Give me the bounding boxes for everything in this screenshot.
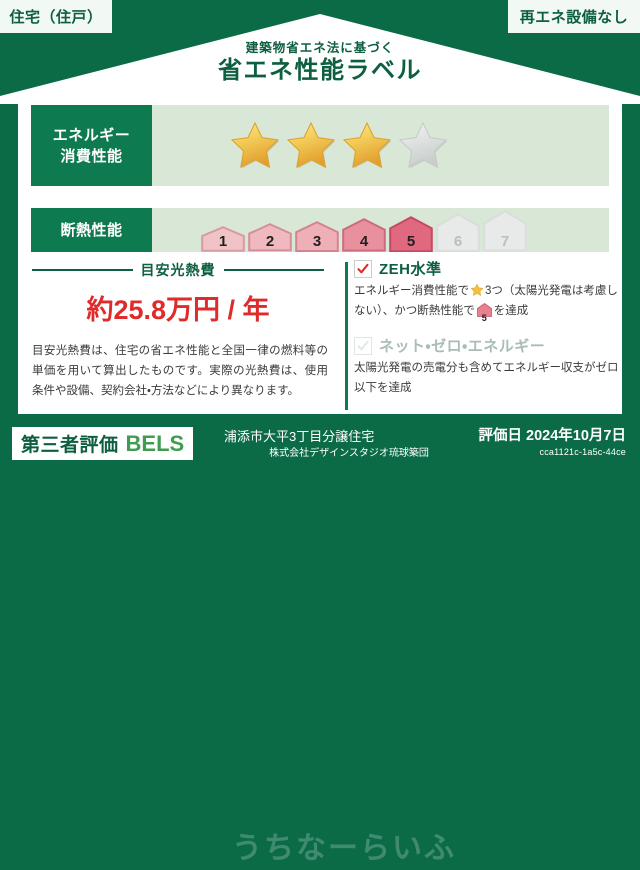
criterion-zeh: ZEH水準 エネルギー消費性能で3つ（太陽光発電は考慮しない）、かつ断熱性能で5… bbox=[354, 258, 619, 324]
criterion-zeh-body-post: を達成 bbox=[494, 305, 529, 317]
criteria-panel: ZEH水準 エネルギー消費性能で3つ（太陽光発電は考慮しない）、かつ断熱性能で5… bbox=[354, 258, 619, 414]
insulation-level-value: 2 bbox=[248, 234, 292, 249]
insulation-level-filled: 5 bbox=[389, 216, 433, 252]
criterion-net-zero: ネット・ゼロ・エネルギー 太陽光発電の売電分も含めてエネルギー収支がゼロ以下を達… bbox=[354, 335, 619, 398]
insulation-performance-row: 断熱性能 1234567 bbox=[31, 208, 609, 252]
building-type-badge-label: 住宅（住戸） bbox=[9, 6, 102, 27]
insulation-level-filled: 4 bbox=[342, 218, 386, 252]
insulation-performance-label: 断熱性能 bbox=[60, 220, 122, 241]
bels-logo-jp: 第三者評価 bbox=[21, 430, 119, 457]
building-type-badge: 住宅（住戸） bbox=[0, 0, 115, 33]
star-filled-icon bbox=[228, 120, 282, 172]
energy-performance-row: エネルギー 消費性能 bbox=[31, 105, 609, 186]
renewable-equipment-badge: 再エネ設備なし bbox=[505, 0, 640, 33]
criterion-net-zero-body: 太陽光発電の売電分も含めてエネルギー収支がゼロ以下を達成 bbox=[354, 359, 619, 398]
criterion-zeh-body-pre: エネルギー消費性能で bbox=[354, 285, 469, 297]
insulation-level-filled: 1 bbox=[201, 226, 245, 252]
criterion-net-zero-header: ネット・ゼロ・エネルギー bbox=[354, 335, 619, 356]
site-watermark: うちなーらいふ bbox=[232, 830, 462, 870]
insulation-level-value: 6 bbox=[436, 234, 480, 249]
star-icon bbox=[470, 283, 484, 297]
criterion-zeh-body: エネルギー消費性能で3つ（太陽光発電は考慮しない）、かつ断熱性能で5を達成 bbox=[354, 282, 619, 324]
star-empty-icon bbox=[396, 120, 450, 172]
page-title: 省エネ性能ラベル bbox=[0, 56, 640, 86]
utility-cost-note: 目安光熱費は、住宅の省エネ性能と全国一律の燃料等の単価を用いて算出したものです。… bbox=[32, 341, 328, 401]
heading-rule-left bbox=[32, 269, 133, 271]
heading-rule-right bbox=[224, 269, 325, 271]
energy-performance-label: 住宅（住戸） 再エネ設備なし 建築物省エネ法に基づく 省エネ性能ラベル エネルギ… bbox=[0, 0, 640, 479]
insulation-level-empty: 6 bbox=[436, 213, 480, 252]
insulation-level-value: 1 bbox=[201, 234, 245, 249]
criterion-zeh-title: ZEH水準 bbox=[379, 258, 442, 279]
utility-cost-panel: 目安光熱費 約25.8万円 / 年 目安光熱費は、住宅の省エネ性能と全国一律の燃… bbox=[18, 258, 338, 414]
utility-cost-heading: 目安光熱費 bbox=[18, 258, 338, 280]
star-rating bbox=[152, 120, 450, 172]
evaluation-info: 評価日 2024年10月7日 cca1121c-1a5c-44ce bbox=[479, 426, 626, 459]
insulation-level-value: 4 bbox=[342, 234, 386, 249]
insulation-level-scale: 1234567 bbox=[152, 208, 527, 252]
energy-performance-label-block: エネルギー 消費性能 bbox=[31, 105, 152, 186]
energy-performance-label-line1: エネルギー bbox=[53, 125, 131, 146]
utility-cost-value: 約25.8万円 / 年 bbox=[18, 288, 338, 327]
project-company: 株式会社デザインスタジオ琉球築団 bbox=[224, 446, 474, 462]
section-divider bbox=[345, 262, 348, 410]
label-footer: 第三者評価 BELS 浦添市大平3丁目分譲住宅 株式会社デザインスタジオ琉球築団… bbox=[0, 414, 640, 479]
criterion-net-zero-title: ネット・ゼロ・エネルギー bbox=[379, 335, 545, 356]
bels-logo-en: BELS bbox=[126, 431, 185, 457]
insulation-level-value: 3 bbox=[295, 234, 339, 249]
project-name: 浦添市大平3丁目分譲住宅 bbox=[224, 428, 474, 446]
label-subtitle: 建築物省エネ法に基づく bbox=[0, 40, 640, 56]
insulation-badge-value: 5 bbox=[477, 314, 492, 323]
insulation-level-value: 5 bbox=[389, 234, 433, 249]
insulation-performance-value-block: 1234567 bbox=[152, 208, 609, 252]
insulation-level-filled: 3 bbox=[295, 221, 339, 252]
utility-cost-heading-label: 目安光熱費 bbox=[141, 260, 216, 280]
insulation-level-empty: 7 bbox=[483, 210, 527, 252]
insulation-level-filled: 2 bbox=[248, 223, 292, 252]
criterion-zeh-header: ZEH水準 bbox=[354, 258, 619, 279]
star-filled-icon bbox=[284, 120, 338, 172]
evaluation-date: 評価日 2024年10月7日 bbox=[479, 426, 626, 446]
lower-section: 目安光熱費 約25.8万円 / 年 目安光熱費は、住宅の省エネ性能と全国一律の燃… bbox=[18, 258, 622, 414]
bels-logo: 第三者評価 BELS bbox=[12, 427, 193, 460]
energy-performance-value-block bbox=[152, 105, 609, 186]
evaluation-id: cca1121c-1a5c-44ce bbox=[479, 446, 626, 459]
star-filled-icon bbox=[340, 120, 394, 172]
project-info: 浦添市大平3丁目分譲住宅 株式会社デザインスタジオ琉球築団 bbox=[224, 428, 474, 462]
checkbox-checked-icon bbox=[354, 260, 372, 278]
insulation-badge-icon: 5 bbox=[477, 303, 492, 325]
checkbox-unchecked-icon bbox=[354, 337, 372, 355]
energy-performance-label-line2: 消費性能 bbox=[60, 146, 122, 167]
insulation-performance-label-block: 断熱性能 bbox=[31, 208, 152, 252]
renewable-equipment-badge-label: 再エネ設備なし bbox=[520, 6, 629, 27]
label-header: 建築物省エネ法に基づく 省エネ性能ラベル bbox=[0, 40, 640, 86]
insulation-level-value: 7 bbox=[483, 234, 527, 249]
